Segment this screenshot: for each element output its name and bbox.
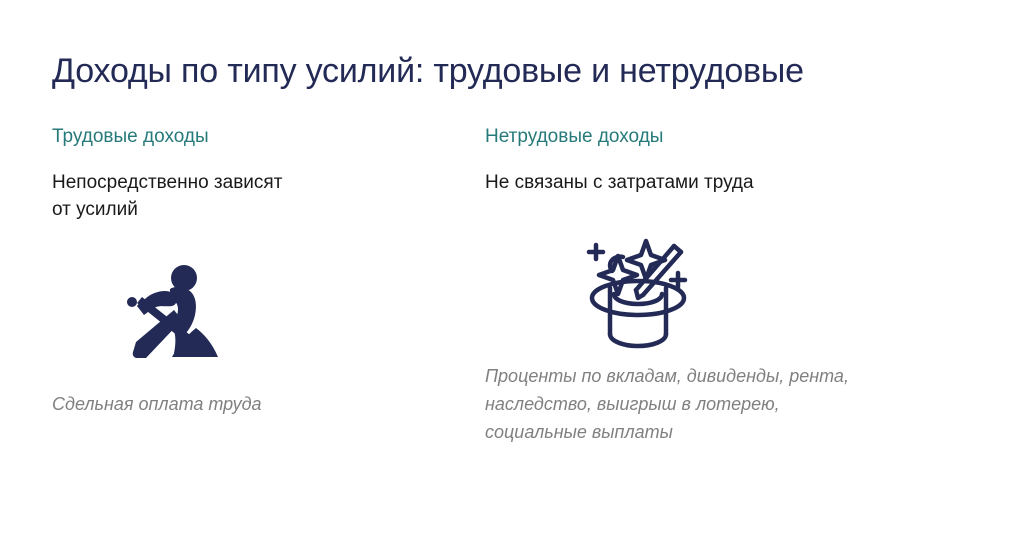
worker-with-shovel-icon <box>112 258 230 376</box>
caption-line: Сдельная оплата труда <box>52 391 262 419</box>
description-line-1: Не связаны с затратами труда <box>485 172 754 193</box>
description-line-1: Непосредственно зависят <box>52 172 282 193</box>
caption-labor: Сдельная оплата труда <box>52 391 262 419</box>
caption-line: Проценты по вкладам, дивиденды, рента, <box>485 363 849 391</box>
caption-line: наследство, выигрыш в лотерею, <box>485 391 849 419</box>
description-line-2: от усилий <box>52 199 138 220</box>
magic-hat-with-wand-icon <box>580 231 700 349</box>
caption-line: социальные выплаты <box>485 419 849 447</box>
slide-canvas: Доходы по типу усилий: трудовые и нетруд… <box>0 0 1024 545</box>
column-nonlabor-income: Нетрудовые доходы Не связаны с затратами… <box>485 126 965 447</box>
icon-container-labor <box>52 250 230 385</box>
column-heading-labor: Трудовые доходы <box>52 126 209 149</box>
page-title: Доходы по типу усилий: трудовые и нетруд… <box>52 52 804 91</box>
column-description-labor: Непосредственно зависят от усилий <box>52 169 282 224</box>
caption-nonlabor: Проценты по вкладам, дивиденды, рента, н… <box>485 363 849 447</box>
column-description-nonlabor: Не связаны с затратами труда <box>485 169 754 197</box>
columns-container: Трудовые доходы Непосредственно зависят … <box>52 126 982 447</box>
column-labor-income: Трудовые доходы Непосредственно зависят … <box>52 126 485 419</box>
icon-container-nonlabor <box>485 222 700 357</box>
column-heading-nonlabor: Нетрудовые доходы <box>485 126 663 149</box>
